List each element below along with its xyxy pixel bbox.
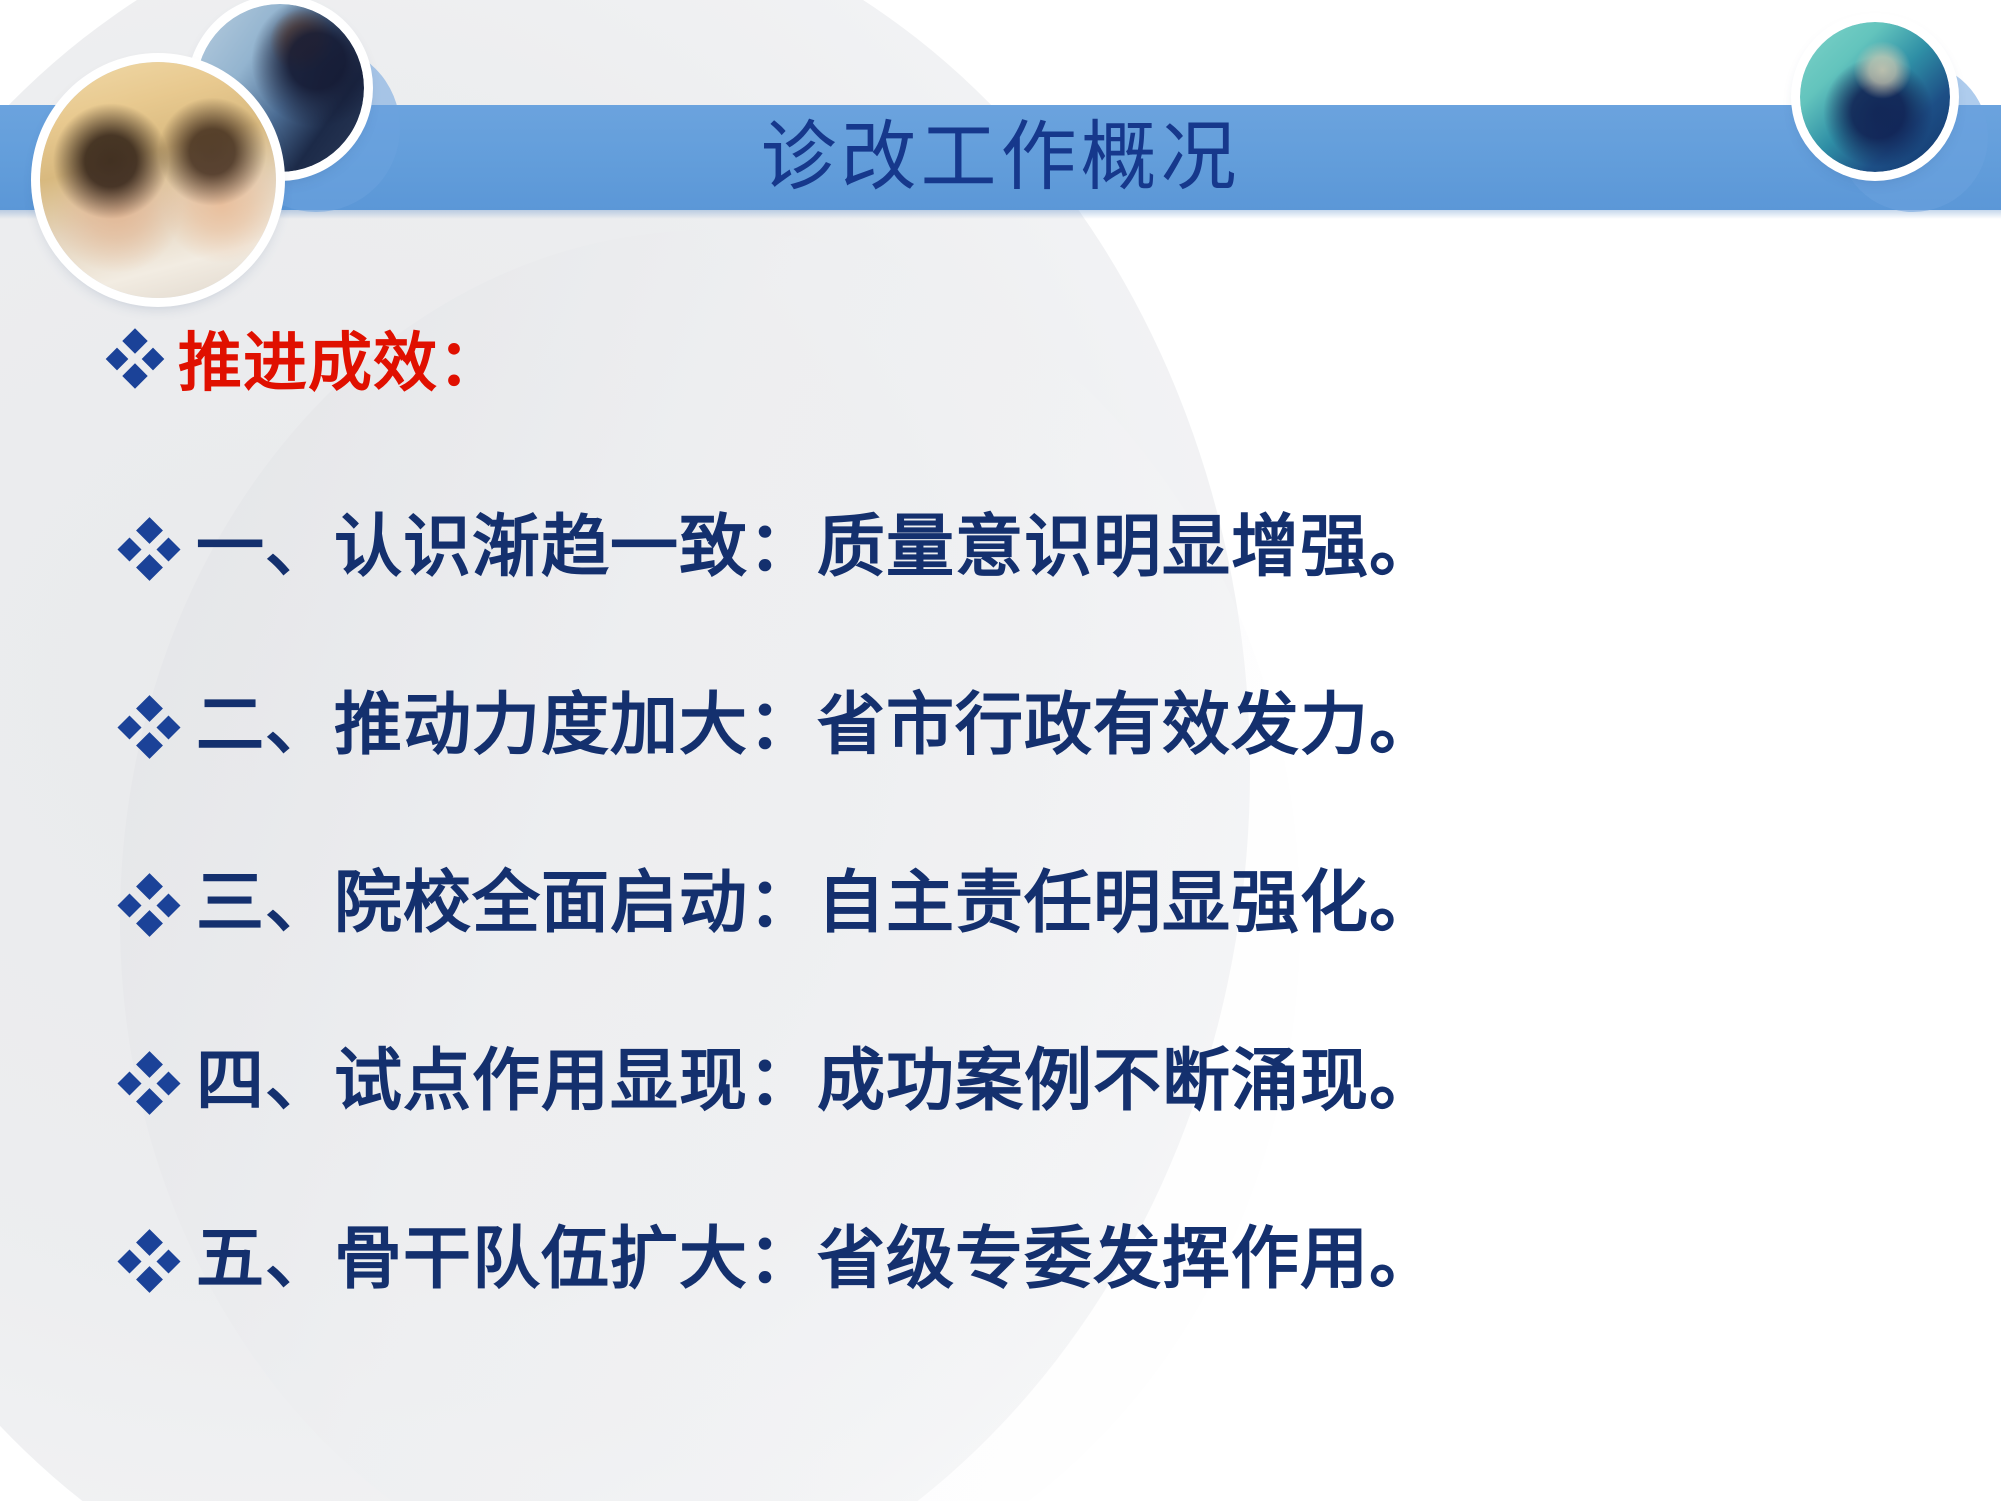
diamond-cluster-bullet-icon <box>118 517 180 579</box>
diamond-cluster-bullet-icon <box>118 873 180 935</box>
bullet-item-label: 四、试点作用显现：成功案例不断涌现。 <box>196 1048 1438 1116</box>
bullet-item-3: 三、院校全面启动：自主责任明显强化。 <box>118 870 1438 938</box>
slide-content: 推进成效： 一、认识渐趋一致：质量意识明显增强。 二、推动力度加大：省市行政有效… <box>0 0 2001 1501</box>
diamond-cluster-bullet-icon <box>118 1051 180 1113</box>
bullet-item-label: 一、认识渐趋一致：质量意识明显增强。 <box>196 514 1438 582</box>
diamond-cluster-bullet-icon <box>118 695 180 757</box>
bullet-item-label: 三、院校全面启动：自主责任明显强化。 <box>196 870 1438 938</box>
bullet-item-5: 五、骨干队伍扩大：省级专委发挥作用。 <box>118 1226 1438 1294</box>
section-heading-row: 推进成效： <box>106 312 503 404</box>
section-heading-text: 推进成效： <box>178 312 503 404</box>
diamond-cluster-bullet-icon <box>118 1229 180 1291</box>
diamond-cluster-bullet-icon <box>106 329 164 387</box>
bullet-item-label: 五、骨干队伍扩大：省级专委发挥作用。 <box>196 1226 1438 1294</box>
bullet-item-2: 二、推动力度加大：省市行政有效发力。 <box>118 692 1438 760</box>
slide-canvas: 诊改工作概况 推进成效： 一、认识渐趋一致：质量意识明显增强。 二、 <box>0 0 2001 1501</box>
bullet-item-1: 一、认识渐趋一致：质量意识明显增强。 <box>118 514 1438 582</box>
bullet-item-4: 四、试点作用显现：成功案例不断涌现。 <box>118 1048 1438 1116</box>
bullet-item-label: 二、推动力度加大：省市行政有效发力。 <box>196 692 1438 760</box>
